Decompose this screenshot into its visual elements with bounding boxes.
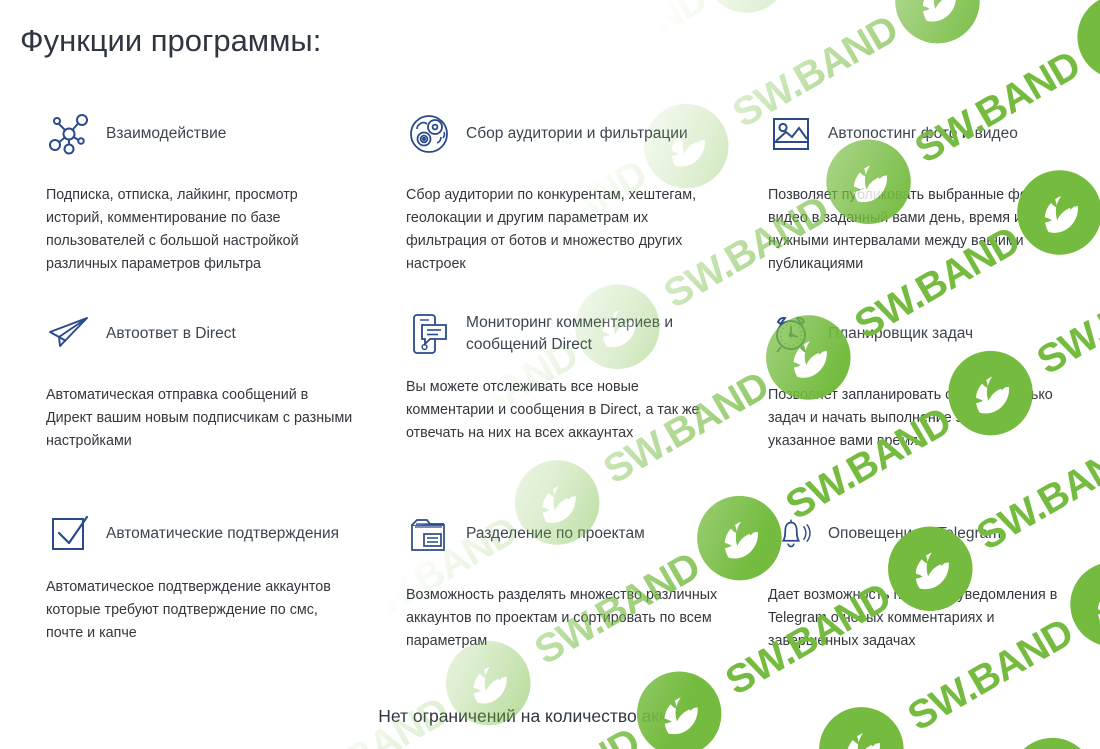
features-row: Взаимодействие Подписка, отписка, лайкин… <box>0 108 1100 308</box>
feature-card-comment-monitoring[interactable]: Мониторинг комментариев и сообщений Dire… <box>406 308 726 445</box>
feature-header: Разделение по проектам <box>406 508 726 560</box>
alarm-clock-icon <box>768 311 814 357</box>
feature-description: Сбор аудитории по конкурентам, хештегам,… <box>406 184 718 277</box>
phone-chat-icon <box>406 311 452 357</box>
feature-card-direct-autoreply[interactable]: Автоответ в Direct Автоматическая отправ… <box>46 308 366 453</box>
page-title: Функции программы: <box>20 23 321 59</box>
page-content: Функции программы: <box>0 0 1100 749</box>
feature-title: Разделение по проектам <box>466 523 645 545</box>
feature-title: Оповещения в Telegram <box>828 523 1001 545</box>
features-grid: Взаимодействие Подписка, отписка, лайкин… <box>0 108 1100 708</box>
feature-card-projects[interactable]: Разделение по проектам Возможность разде… <box>406 508 726 653</box>
feature-header: Мониторинг комментариев и сообщений Dire… <box>406 308 726 360</box>
feature-header: Автопостинг фото и видео <box>768 108 1088 160</box>
feature-description: Автоматическая отправка сообщений в Дире… <box>46 384 358 453</box>
feature-header: Сбор аудитории и фильтрации <box>406 108 726 160</box>
feature-description: Позволяет публиковать выбранные фото и в… <box>768 184 1080 277</box>
feature-description: Вы можете отслеживать все новые коммента… <box>406 376 718 445</box>
feature-card-interaction[interactable]: Взаимодействие Подписка, отписка, лайкин… <box>46 108 366 277</box>
feature-header: Автоответ в Direct <box>46 308 366 360</box>
features-row: Автоответ в Direct Автоматическая отправ… <box>0 308 1100 508</box>
features-row: Автоматические подтверждения Автоматичес… <box>0 508 1100 708</box>
feature-description: Позволяет запланировать сразу несколько … <box>768 384 1058 453</box>
feature-title: Автоматические подтверждения <box>106 523 339 545</box>
feature-title: Мониторинг комментариев и сообщений Dire… <box>466 312 726 357</box>
feature-description: Подписка, отписка, лайкинг, просмотр ист… <box>46 184 358 277</box>
feature-description: Автоматическое подтверждение аккаунтов к… <box>46 576 358 645</box>
feature-card-task-scheduler[interactable]: Планировщик задач Позволяет запланироват… <box>768 308 1088 453</box>
feature-header: Автоматические подтверждения <box>46 508 366 560</box>
feature-title: Планировщик задач <box>828 323 973 345</box>
network-nodes-icon <box>46 111 92 157</box>
folder-document-icon <box>406 511 452 557</box>
paper-plane-icon <box>46 311 92 357</box>
bell-notification-icon <box>768 511 814 557</box>
feature-card-autopost[interactable]: Автопостинг фото и видео Позволяет публи… <box>768 108 1088 277</box>
globe-gears-icon <box>406 111 452 157</box>
feature-title: Взаимодействие <box>106 123 226 145</box>
feature-title: Сбор аудитории и фильтрации <box>466 123 688 145</box>
photo-image-icon <box>768 111 814 157</box>
feature-card-telegram-alerts[interactable]: Оповещения в Telegram Дает возможность п… <box>768 508 1088 653</box>
feature-header: Взаимодействие <box>46 108 366 160</box>
features-page: Функции программы: <box>0 0 1100 749</box>
feature-header: Оповещения в Telegram <box>768 508 1088 560</box>
feature-header: Планировщик задач <box>768 308 1088 360</box>
feature-description: Возможность разделять множество различны… <box>406 584 718 653</box>
feature-title: Автоответ в Direct <box>106 323 236 345</box>
feature-card-audience[interactable]: Сбор аудитории и фильтрации Сбор аудитор… <box>406 108 726 277</box>
feature-card-auto-confirm[interactable]: Автоматические подтверждения Автоматичес… <box>46 508 366 645</box>
feature-description: Дает возможность получать уведомления в … <box>768 584 1058 653</box>
footer-note: Нет ограничений на количество аккаунтов <box>0 706 1100 727</box>
checkbox-check-icon <box>46 511 92 557</box>
feature-title: Автопостинг фото и видео <box>828 123 1018 145</box>
